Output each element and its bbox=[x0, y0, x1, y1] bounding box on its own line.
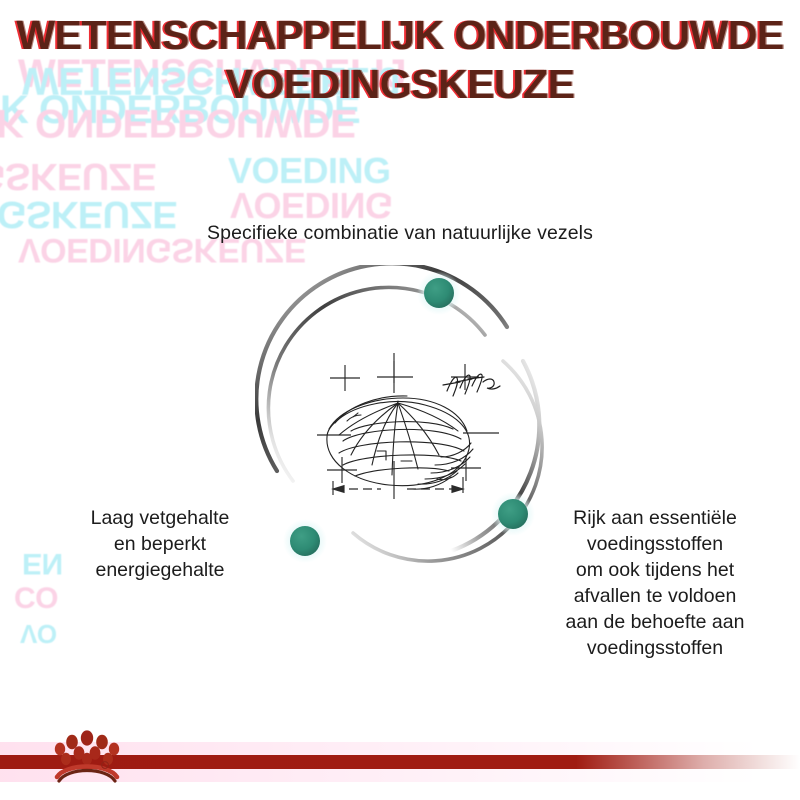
benefit-label-left: Laag vetgehalte en beperkt energiegehalt… bbox=[20, 506, 300, 584]
benefit-left-line-3: energiegehalte bbox=[20, 558, 300, 584]
kibble-diagram bbox=[255, 265, 555, 565]
benefit-left-line-1: Laag vetgehalte bbox=[20, 506, 300, 532]
registration-marks bbox=[317, 353, 499, 499]
royal-canin-crown-logo bbox=[48, 725, 126, 787]
ghost-text-3: K ONDERBOUWDE bbox=[0, 100, 356, 145]
page-title: WETENSCHAPPELIJK ONDERBOUWDE VOEDINGSKEU… bbox=[0, 14, 800, 105]
ghost-text-11: VO bbox=[20, 618, 57, 649]
ghost-text-4: GSKEUZE bbox=[0, 154, 156, 197]
benefit-right-line-3: om ook tijdens het bbox=[520, 558, 790, 584]
benefit-right-line-4: afvallen te voldoen bbox=[520, 584, 790, 610]
benefit-left-line-2: en beperkt bbox=[20, 532, 300, 558]
ghost-text-10: CO bbox=[14, 582, 58, 616]
accent-dot-top-core bbox=[424, 278, 454, 308]
title-line-2: VOEDINGSKEUZE bbox=[0, 63, 800, 106]
crown-icon bbox=[55, 730, 119, 765]
benefit-right-line-1: Rijk aan essentiële bbox=[520, 506, 790, 532]
benefit-right-line-6: voedingsstoffen bbox=[520, 636, 790, 662]
benefit-right-line-5: aan de behoefte aan bbox=[520, 610, 790, 636]
benefit-right-line-2: voedingsstoffen bbox=[520, 532, 790, 558]
ghost-text-6: VOEDING bbox=[228, 150, 391, 192]
kibble-sketch bbox=[327, 396, 473, 489]
crown-arc bbox=[57, 767, 117, 782]
ghost-text-7: VOEDING bbox=[230, 184, 393, 226]
benefit-label-right: Rijk aan essentiële voedingsstoffen om o… bbox=[520, 506, 790, 662]
title-line-1: WETENSCHAPPELIJK ONDERBOUWDE bbox=[0, 14, 800, 57]
caption-fibers: Specifieke combinatie van natuurlijke ve… bbox=[0, 222, 800, 245]
poster-root: WETENSCHAPPELIJK ONDERBOUWDEWETENSCHAPPE… bbox=[0, 0, 800, 800]
